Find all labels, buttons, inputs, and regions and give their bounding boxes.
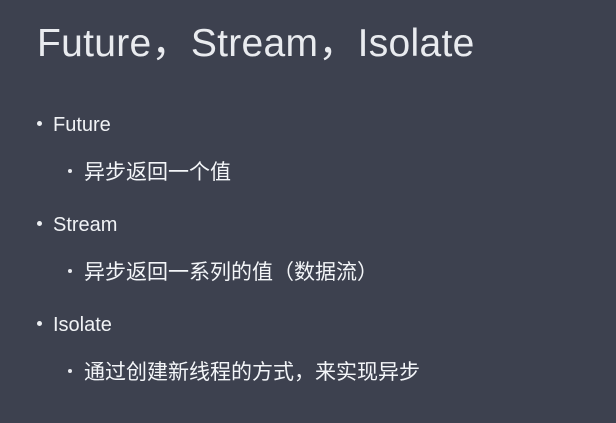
list-item-level1: Isolate — [37, 312, 112, 339]
bullet-group-future: Future 异步返回一个值 — [0, 108, 616, 208]
bullet-dot-icon — [37, 121, 42, 126]
list-item-level1: Future — [37, 112, 111, 139]
bullet-dot-icon — [37, 321, 42, 326]
list-item-level2: 异步返回一系列的值（数据流） — [68, 258, 378, 287]
list-item-level1-label: Stream — [53, 212, 117, 239]
bullet-list: Future 异步返回一个值 Stream 异步返回一系列的值（数据流） Iso… — [0, 108, 616, 408]
bullet-dot-icon — [68, 269, 72, 273]
list-item-level2: 通过创建新线程的方式，来实现异步 — [68, 358, 420, 387]
presentation-slide: Future，Stream，Isolate Future 异步返回一个值 Str… — [0, 0, 616, 423]
list-item-level1-label: Future — [53, 112, 111, 139]
list-item-level2-label: 通过创建新线程的方式，来实现异步 — [84, 358, 420, 387]
list-item-level1-label: Isolate — [53, 312, 112, 339]
list-item-level2: 异步返回一个值 — [68, 158, 231, 187]
list-item-level2-label: 异步返回一个值 — [84, 158, 231, 187]
bullet-group-stream: Stream 异步返回一系列的值（数据流） — [0, 208, 616, 308]
list-item-level1: Stream — [37, 212, 117, 239]
bullet-dot-icon — [37, 221, 42, 226]
bullet-group-isolate: Isolate 通过创建新线程的方式，来实现异步 — [0, 308, 616, 408]
page-title: Future，Stream，Isolate — [37, 20, 475, 68]
list-item-level2-label: 异步返回一系列的值（数据流） — [84, 258, 378, 287]
bullet-dot-icon — [68, 369, 72, 373]
bullet-dot-icon — [68, 169, 72, 173]
